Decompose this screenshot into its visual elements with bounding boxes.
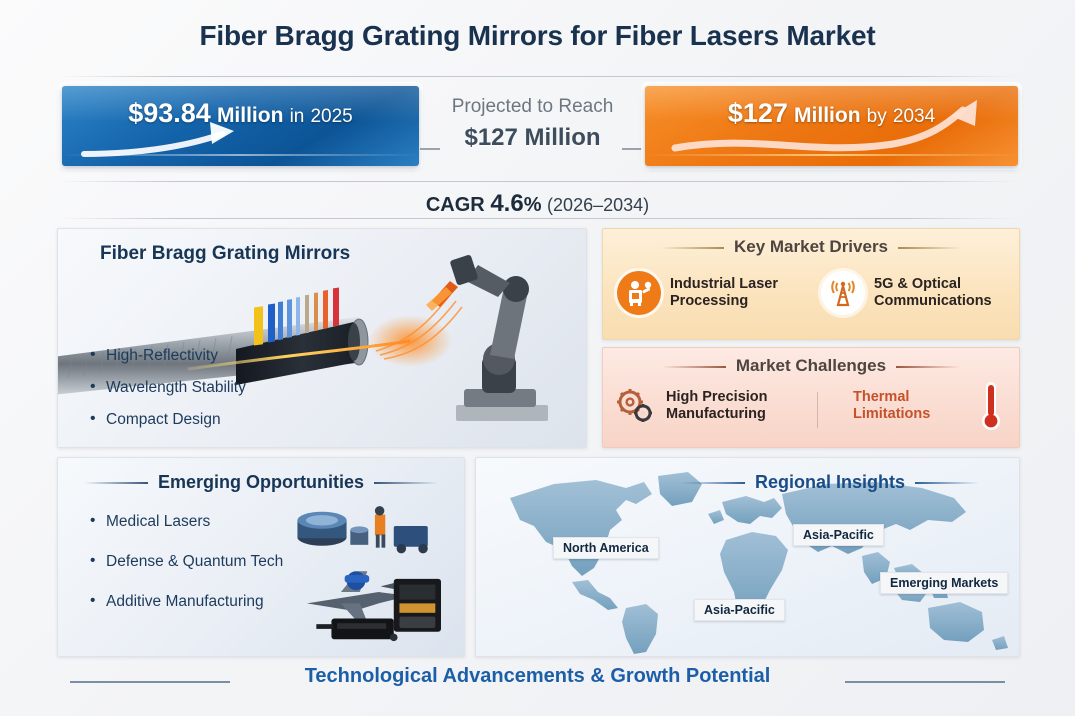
kpi-future-unit: Million (794, 104, 861, 127)
title-rule-left (662, 366, 726, 368)
map-label-north-america[interactable]: North America (553, 537, 659, 559)
industrial-robot-icon (617, 271, 661, 315)
kpi-future-year: 2034 (893, 106, 935, 127)
cagr-period: (2026–2034) (547, 195, 649, 215)
kpi-future-value: $127 (728, 98, 788, 128)
kpi-future-value-banner: $127 Million by 2034 (645, 86, 1018, 166)
kpi-future-connector: by (867, 106, 887, 127)
divider-bottom (57, 218, 1018, 219)
blue-gloss-line (62, 154, 419, 156)
driver-item-5g-optical[interactable]: 5G & Optical Communications (821, 271, 1011, 315)
page-title: Fiber Bragg Grating Mirrors for Fiber La… (0, 20, 1075, 52)
drivers-title: Key Market Drivers (734, 237, 888, 256)
divider-top (57, 76, 1018, 77)
title-rule-left (660, 247, 724, 249)
product-bullet: Compact Design (90, 411, 246, 429)
title-rule-right (915, 482, 979, 484)
driver-label: 5G & Optical Communications (874, 276, 1011, 311)
footer-banner: Technological Advancements & Growth Pote… (0, 665, 1075, 688)
opportunity-bullet: Defense & Quantum Tech (90, 553, 283, 571)
driver-label: Industrial Laser Processing (670, 276, 807, 311)
projection-label: Projected to Reach (425, 96, 640, 118)
challenges-divider (817, 392, 818, 428)
regional-insights-panel: Regional Insights North America Asia-Pac… (475, 457, 1020, 657)
footer-rule-left (70, 681, 230, 683)
projection-block: Projected to Reach $127 Million (425, 96, 640, 152)
divider-mid (57, 181, 1018, 182)
product-bullet: High-Reflectivity (90, 347, 246, 365)
kpi-current-year: 2025 (310, 106, 352, 127)
infographic-root: Fiber Bragg Grating Mirrors for Fiber La… (0, 0, 1075, 716)
projection-value: $127 Million (425, 124, 640, 152)
challenges-title-row: Market Challenges (603, 356, 1019, 376)
challenges-title: Market Challenges (736, 356, 886, 375)
product-bullet-list: High-Reflectivity Wavelength Stability C… (90, 347, 246, 443)
drivers-title-row: Key Market Drivers (603, 237, 1019, 257)
orange-gloss-line (645, 154, 1018, 156)
map-label-asia-pacific-2[interactable]: Asia-Pacific (694, 599, 785, 621)
challenge-label: High Precision Manufacturing (666, 389, 813, 424)
opportunity-bullet: Medical Lasers (90, 513, 283, 531)
opportunities-title: Emerging Opportunities (158, 472, 364, 492)
kpi-current-value: $93.84 (128, 98, 211, 128)
challenge-item-thermal[interactable]: Thermal Limitations (853, 384, 1013, 428)
footer-text: Technological Advancements & Growth Pote… (305, 665, 771, 687)
antenna-tower-icon (821, 271, 865, 315)
cagr-percent: % (524, 194, 542, 216)
title-rule-left (84, 482, 148, 484)
market-challenges-panel: Market Challenges (602, 347, 1020, 448)
opportunities-title-row: Emerging Opportunities (58, 472, 464, 493)
map-label-asia-pacific[interactable]: Asia-Pacific (793, 524, 884, 546)
product-heading: Fiber Bragg Grating Mirrors (100, 243, 350, 265)
emerging-opportunities-panel: Emerging Opportunities Medical Lasers De… (57, 457, 465, 657)
title-rule-left (681, 482, 745, 484)
kpi-current-text: $93.84 Million in 2025 (62, 98, 419, 129)
gears-icon (613, 384, 657, 428)
kpi-current-unit: Million (217, 104, 284, 127)
challenge-label: Thermal Limitations (853, 389, 960, 424)
challenge-item-high-precision[interactable]: High Precision Manufacturing (613, 384, 813, 428)
kpi-current-value-banner: $93.84 Million in 2025 (62, 86, 419, 166)
title-rule-right (896, 366, 960, 368)
key-market-drivers-panel: Key Market Drivers Industrial Laser Proc… (602, 228, 1020, 340)
regional-title: Regional Insights (755, 472, 905, 492)
driver-item-industrial-laser[interactable]: Industrial Laser Processing (617, 271, 807, 315)
footer-rule-right (845, 681, 1005, 683)
cagr-line: CAGR 4.6% (2026–2034) (0, 190, 1075, 218)
thermometer-icon (969, 384, 1013, 428)
kpi-current-connector: in (290, 106, 305, 127)
opportunities-bullet-list: Medical Lasers Defense & Quantum Tech Ad… (90, 513, 283, 633)
cagr-value: 4.6 (490, 190, 523, 217)
title-rule-right (374, 482, 438, 484)
title-rule-right (898, 247, 962, 249)
regional-title-row: Regional Insights (476, 472, 1019, 493)
kpi-future-text: $127 Million by 2034 (645, 98, 1018, 129)
opportunity-bullet: Additive Manufacturing (90, 593, 283, 611)
map-label-emerging-markets[interactable]: Emerging Markets (880, 572, 1008, 594)
laser-equipment-illustration-icon (288, 502, 458, 650)
cagr-label: CAGR (426, 194, 485, 216)
product-bullet: Wavelength Stability (90, 379, 246, 397)
product-panel: Fiber Bragg Grating Mirrors High-Reflect… (57, 228, 587, 448)
